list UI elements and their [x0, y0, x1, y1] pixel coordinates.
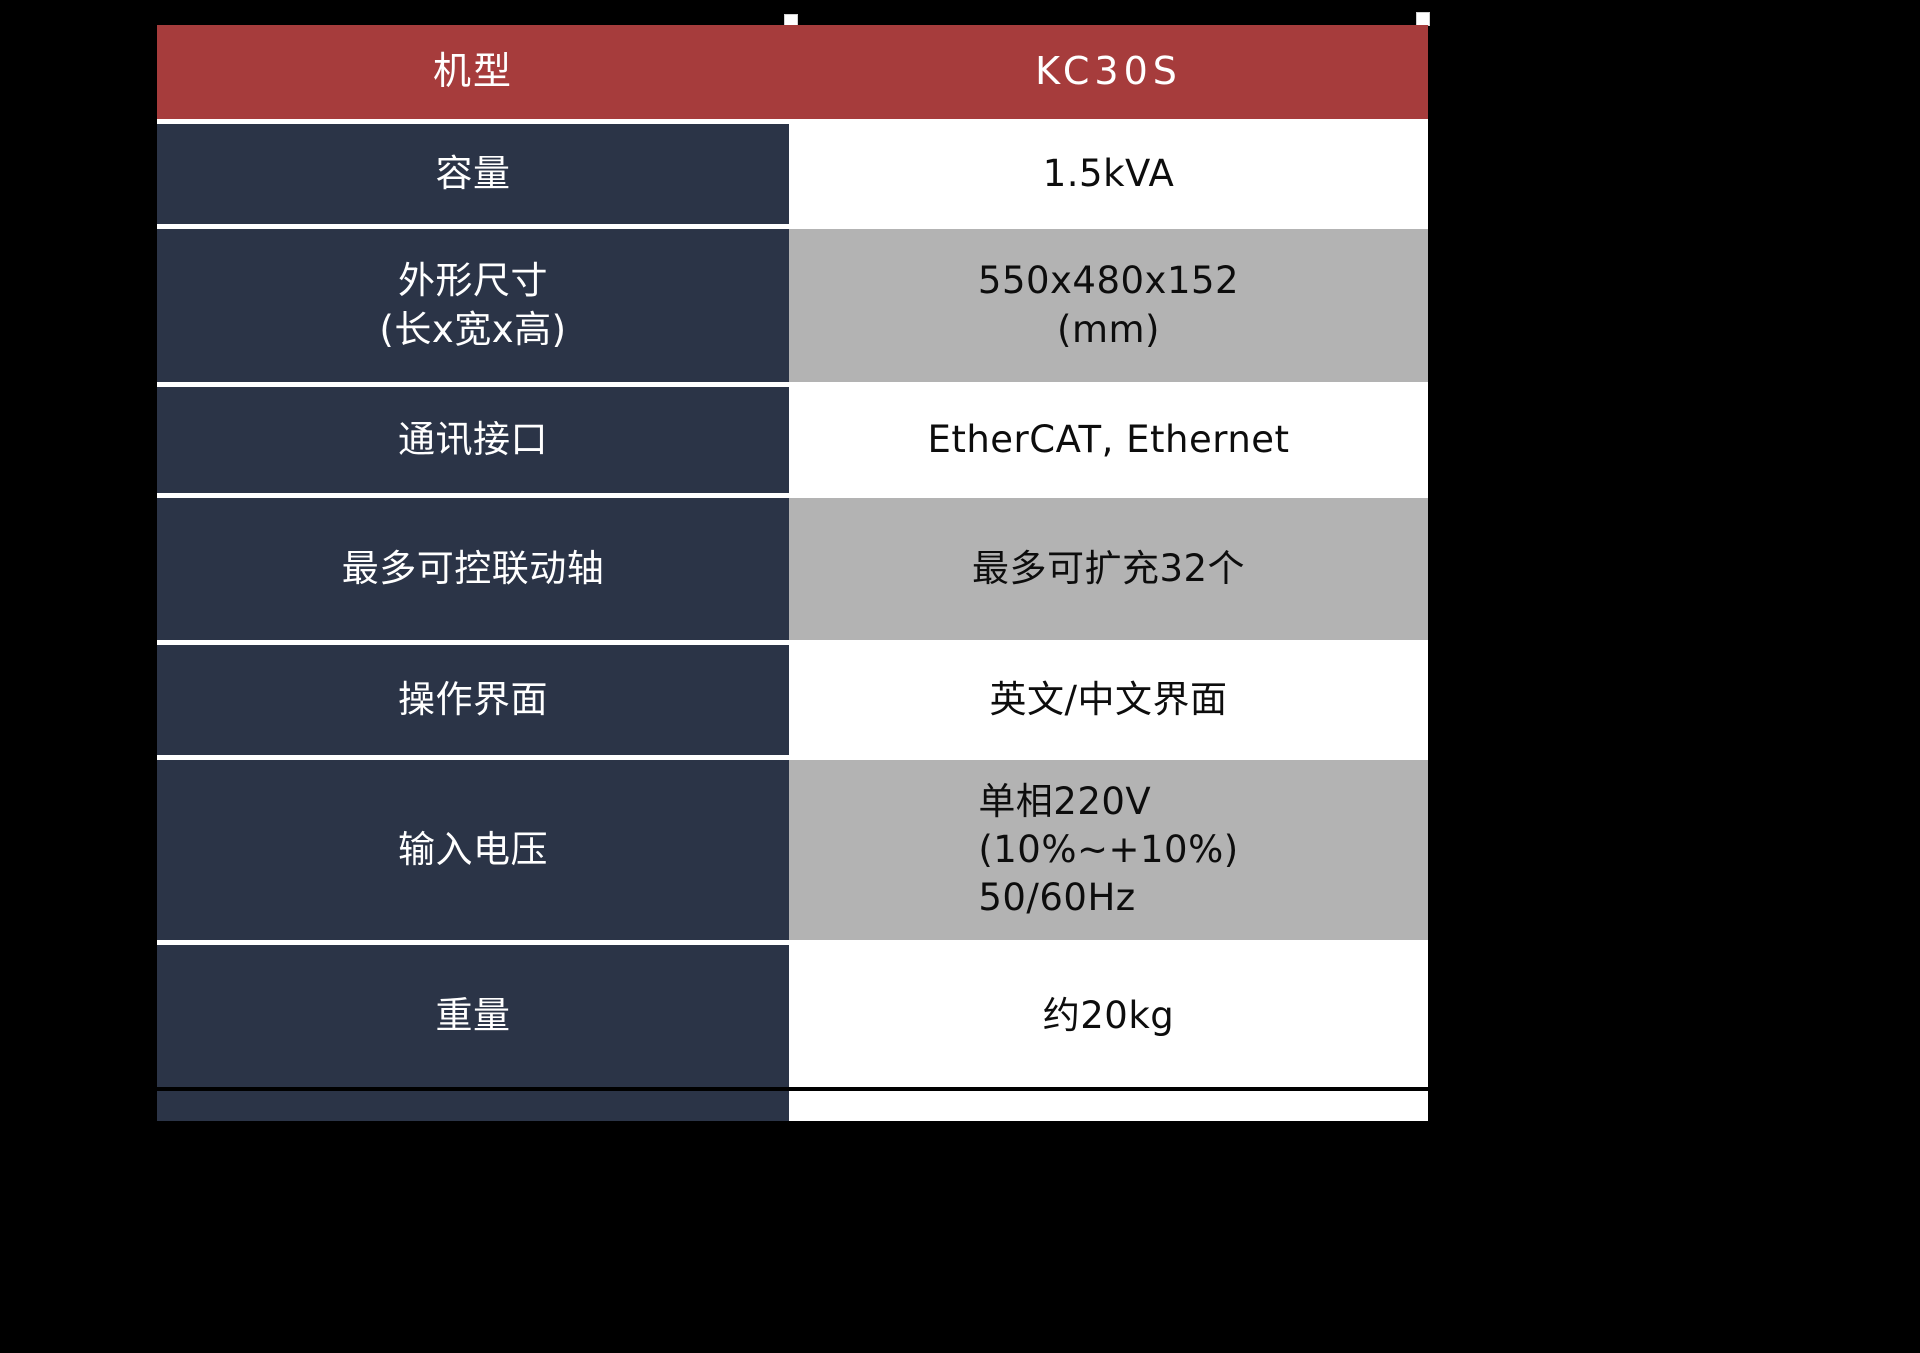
row-value-capacity: 1.5kVA: [789, 124, 1428, 224]
table-row-weight: 重量 约20kg: [157, 945, 1428, 1087]
row-label-communication-text: 通讯接口: [398, 418, 548, 461]
row-label-axes-text: 最多可控联动轴: [342, 547, 605, 590]
row-value-interface: 英文/中文界面: [789, 645, 1428, 755]
selection-handle-top-right[interactable]: [1416, 12, 1430, 26]
header-label-cell: 机型: [157, 25, 789, 119]
row-value-communication: EtherCAT, Ethernet: [789, 387, 1428, 493]
slide-canvas: 机型 KC30S 容量 1.5kVA: [0, 0, 1920, 1353]
row-label-input-voltage-text: 输入电压: [398, 828, 548, 871]
table-row-communication: 通讯接口 EtherCAT, Ethernet: [157, 387, 1428, 493]
row-value-dimensions-text: 550x480x152 (mm): [978, 259, 1239, 350]
row-label-interface: 操作界面: [157, 645, 789, 755]
row-label-input-voltage: 输入电压: [157, 760, 789, 940]
row-value-capacity-text: 1.5kVA: [1043, 152, 1175, 195]
row-value-communication-text: EtherCAT, Ethernet: [927, 418, 1289, 461]
row-value-dimensions: 550x480x152 (mm): [789, 229, 1428, 382]
header-value-text: KC30S: [1035, 49, 1182, 93]
row-value-axes-text: 最多可扩充32个: [972, 547, 1245, 590]
row-label-partial: [157, 1091, 789, 1121]
table-header-row: 机型 KC30S: [157, 25, 1428, 119]
row-label-capacity-text: 容量: [436, 152, 511, 195]
row-value-input-voltage: 单相220V (10%~+10%) 50/60Hz: [789, 760, 1428, 940]
row-label-capacity: 容量: [157, 124, 789, 224]
row-value-weight-text: 约20kg: [1043, 994, 1175, 1037]
row-value-input-voltage-text: 单相220V (10%~+10%) 50/60Hz: [978, 778, 1238, 922]
row-value-weight: 约20kg: [789, 945, 1428, 1087]
row-value-interface-text: 英文/中文界面: [990, 678, 1228, 721]
row-value-partial: [789, 1091, 1428, 1121]
row-label-communication: 通讯接口: [157, 387, 789, 493]
header-label-text: 机型: [433, 49, 513, 93]
header-value-cell: KC30S: [789, 25, 1428, 119]
row-label-dimensions: 外形尺寸 (长x宽x高): [157, 229, 789, 382]
row-label-interface-text: 操作界面: [398, 678, 548, 721]
specification-table: 机型 KC30S 容量 1.5kVA: [157, 25, 1428, 1121]
table-row-input-voltage: 输入电压 单相220V (10%~+10%) 50/60Hz: [157, 760, 1428, 940]
specification-table-body: 机型 KC30S 容量 1.5kVA: [157, 25, 1428, 1121]
table-row-partial: [157, 1091, 1428, 1121]
row-value-axes: 最多可扩充32个: [789, 498, 1428, 640]
row-label-dimensions-text: 外形尺寸 (长x宽x高): [379, 259, 566, 350]
table-row-interface: 操作界面 英文/中文界面: [157, 645, 1428, 755]
table-row-capacity: 容量 1.5kVA: [157, 124, 1428, 224]
row-label-axes: 最多可控联动轴: [157, 498, 789, 640]
row-label-weight-text: 重量: [436, 994, 511, 1037]
row-label-weight: 重量: [157, 945, 789, 1087]
table-row-axes: 最多可控联动轴 最多可扩充32个: [157, 498, 1428, 640]
table-row-dimensions: 外形尺寸 (长x宽x高) 550x480x152 (mm): [157, 229, 1428, 382]
